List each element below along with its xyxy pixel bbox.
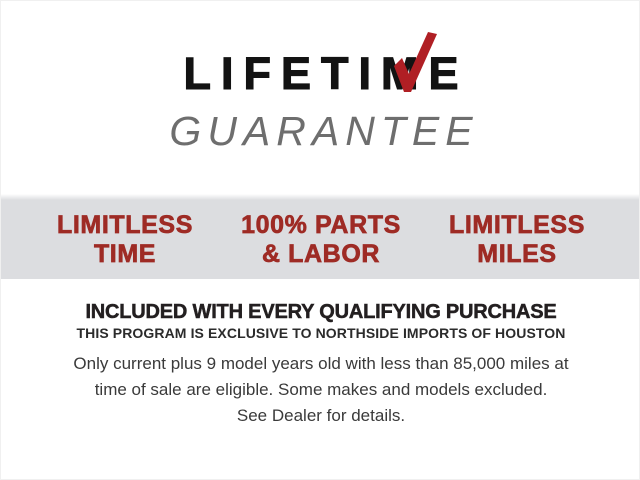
fine-print-block: Only current plus 9 model years old with… xyxy=(37,351,605,429)
fine-print-line-1: Only current plus 9 model years old with… xyxy=(37,351,605,377)
logo-block: LIFETIME GUARANTEE xyxy=(1,45,640,155)
feature-line-1: 100% PARTS xyxy=(241,211,401,239)
feature-line-2: & LABOR xyxy=(223,240,419,269)
logo-lifetime-wrapper: LIFETIME xyxy=(174,45,469,103)
logo-guarantee-text: GUARANTEE xyxy=(1,107,640,155)
feature-column-limitless-miles: LIMITLESS MILES xyxy=(419,211,615,269)
logo-lifetime-text: LIFETIME xyxy=(174,45,469,103)
headline: INCLUDED WITH EVERY QUALIFYING PURCHASE xyxy=(1,300,640,324)
feature-line-2: TIME xyxy=(27,240,223,269)
subheadline: THIS PROGRAM IS EXCLUSIVE TO NORTHSIDE I… xyxy=(1,325,640,342)
feature-line-2: MILES xyxy=(419,240,615,269)
feature-line-1: LIMITLESS xyxy=(449,211,585,239)
fine-print-line-3: See Dealer for details. xyxy=(37,403,605,429)
feature-band: LIMITLESS TIME 100% PARTS & LABOR LIMITL… xyxy=(1,200,640,279)
feature-column-parts-labor: 100% PARTS & LABOR xyxy=(223,211,419,269)
feature-column-limitless-time: LIMITLESS TIME xyxy=(27,211,223,269)
fine-print-line-2: time of sale are eligible. Some makes an… xyxy=(37,377,605,403)
feature-line-1: LIMITLESS xyxy=(57,211,193,239)
lifetime-guarantee-advertisement: LIFETIME GUARANTEE LIMITLESS TIME 100% P… xyxy=(0,0,640,480)
